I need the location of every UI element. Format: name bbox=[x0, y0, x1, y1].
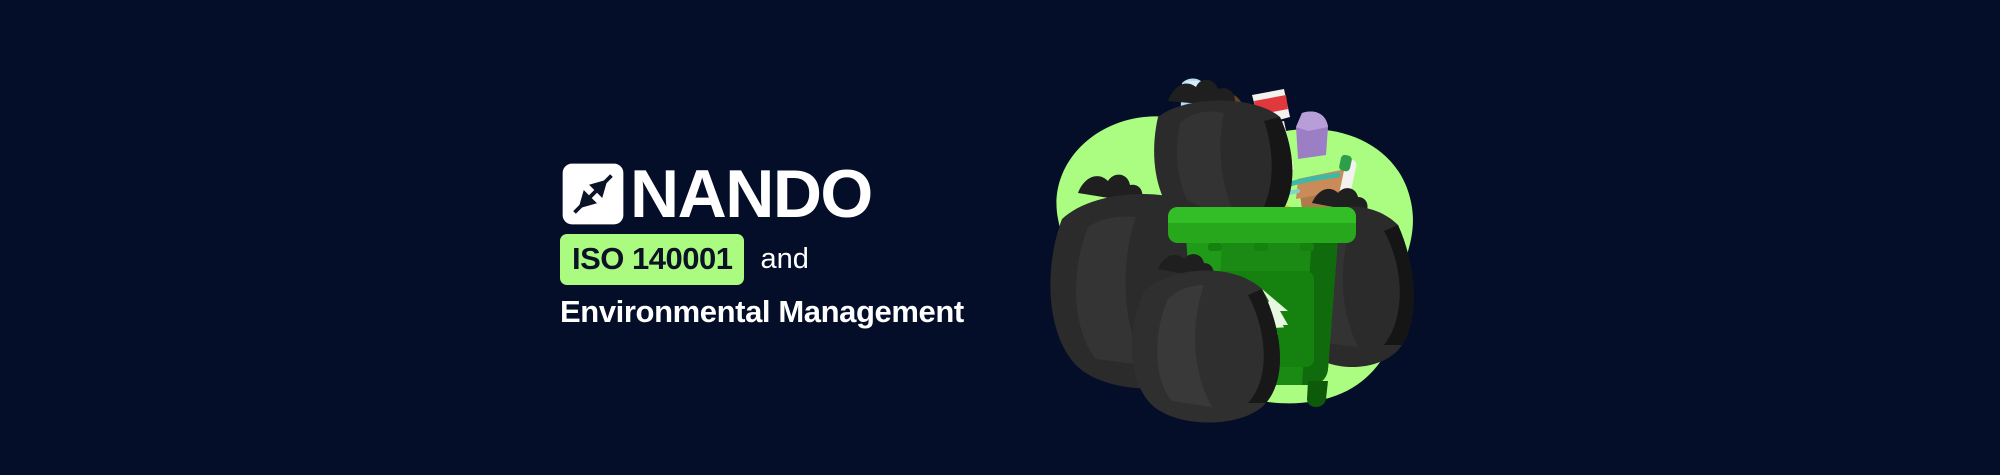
headline-text-block: NANDO ISO 140001 and Environmental Manag… bbox=[560, 160, 1000, 329]
headline-subtitle: Environmental Management bbox=[560, 295, 964, 329]
bin-wheel bbox=[1307, 381, 1328, 407]
brand-row: NANDO bbox=[560, 160, 872, 228]
recycle-arrows-logo-icon bbox=[560, 161, 626, 227]
iso-row: ISO 140001 and bbox=[560, 234, 809, 285]
conjunction-label: and bbox=[760, 245, 808, 274]
banner-content: NANDO ISO 140001 and Environmental Manag… bbox=[0, 0, 2000, 475]
iso-standard-badge: ISO 140001 bbox=[560, 234, 744, 285]
overflowing-recycling-bin-illustration bbox=[1040, 51, 1440, 431]
hero-banner: NANDO ISO 140001 and Environmental Manag… bbox=[0, 0, 2000, 475]
brand-wordmark: NANDO bbox=[630, 160, 872, 228]
